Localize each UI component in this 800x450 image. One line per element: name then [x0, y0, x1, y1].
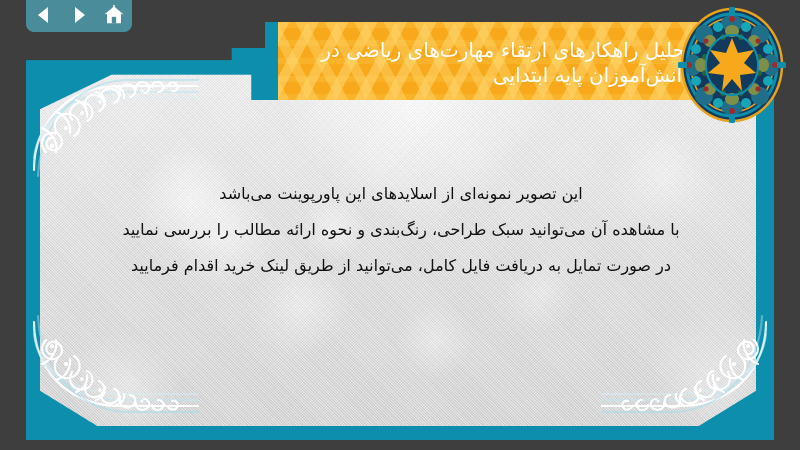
persian-mandala-medallion-icon: [676, 5, 788, 125]
slide-title-line: دانش‌آموزان پایه ابتدایی: [493, 63, 691, 88]
body-line: این تصویر نمونه‌ای از اسلایدهای این پاور…: [56, 176, 746, 212]
slide-canvas: این تصویر نمونه‌ای از اسلایدهای این پاور…: [26, 48, 774, 440]
banner-body: تحلیل راهکارهای ارتقاء مهارت‌های ریاضی د…: [278, 22, 725, 100]
body-line: با مشاهده آن می‌توانید سبک طراحی، رنگ‌بن…: [56, 212, 746, 248]
triangle-left-icon: [34, 5, 54, 25]
slide-viewer: این تصویر نمونه‌ای از اسلایدهای این پاور…: [0, 0, 800, 450]
banner-left-cap: [265, 22, 279, 100]
home-button[interactable]: [101, 2, 127, 28]
home-icon: [103, 4, 125, 26]
previous-slide-button[interactable]: [31, 2, 57, 28]
slide-body-text: این تصویر نمونه‌ای از اسلایدهای این پاور…: [56, 176, 746, 284]
slide-navigation-bar: [26, 0, 132, 32]
body-line: در صورت تمایل به دریافت فایل کامل، می‌تو…: [56, 248, 746, 284]
triangle-right-icon: [69, 5, 89, 25]
next-slide-button[interactable]: [66, 2, 92, 28]
slide-title-line: تحلیل راهکارهای ارتقاء مهارت‌های ریاضی د…: [321, 38, 691, 63]
slide-title-banner: تحلیل راهکارهای ارتقاء مهارت‌های ریاضی د…: [265, 22, 725, 100]
